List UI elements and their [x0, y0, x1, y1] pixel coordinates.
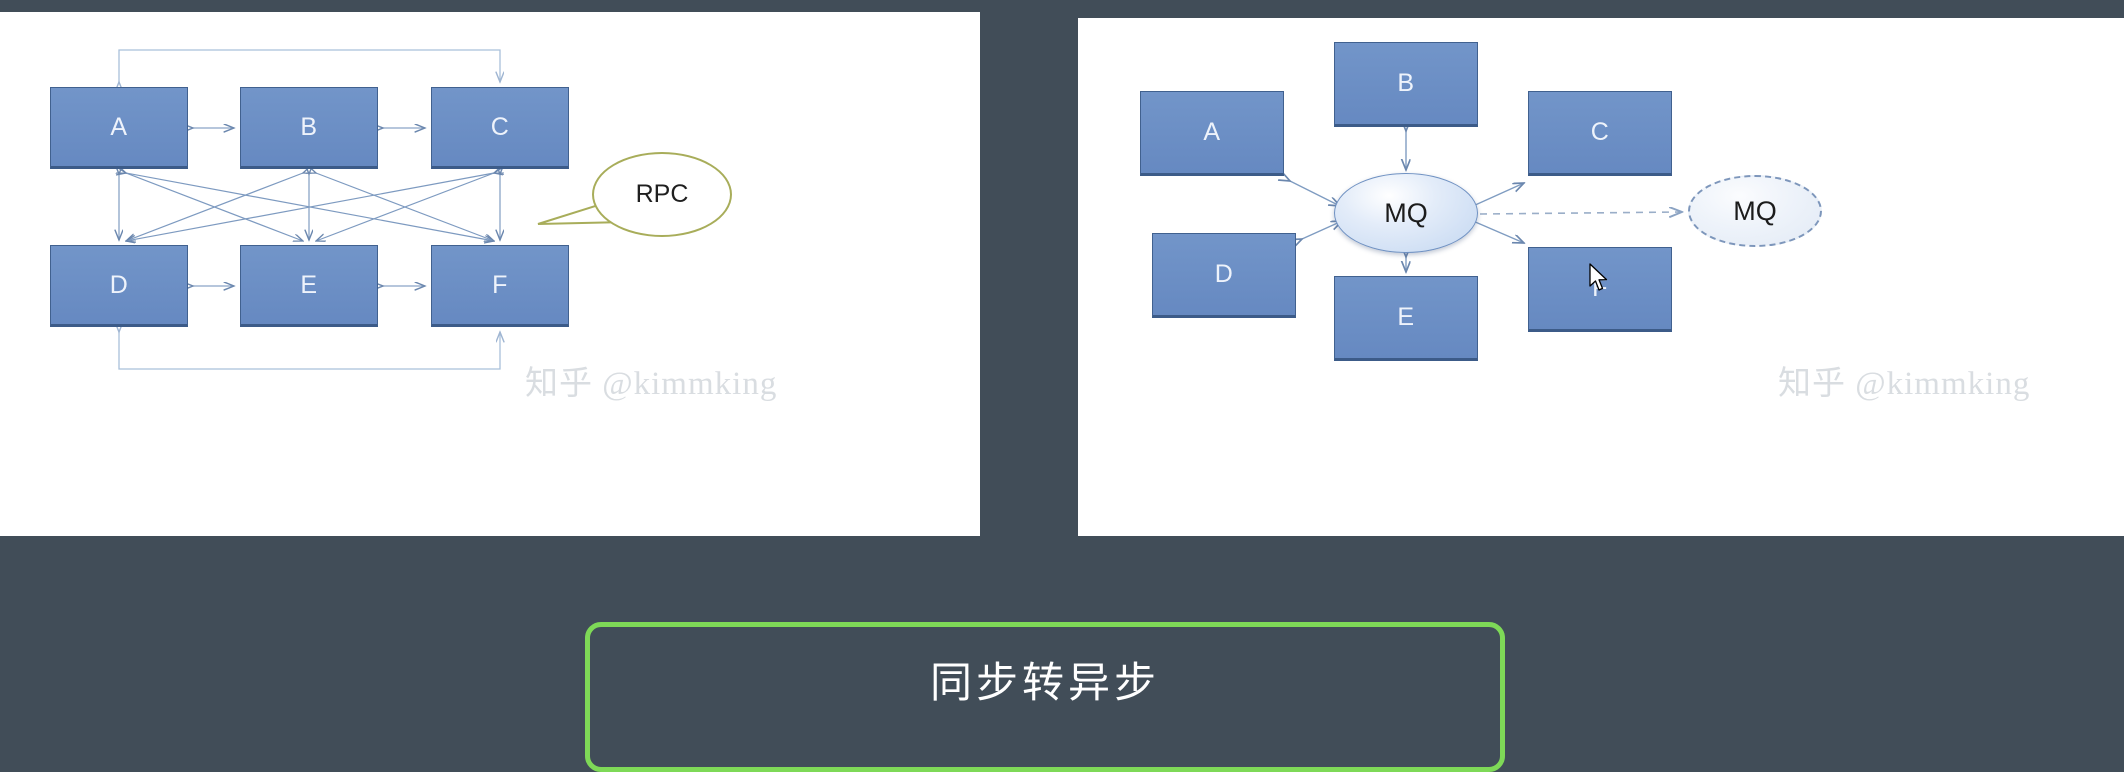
left-node-c-label: C	[491, 113, 510, 142]
right-node-b-label: B	[1397, 69, 1414, 98]
rpc-callout-label: RPC	[636, 180, 689, 209]
mq-broker-replica[interactable]: MQ	[1688, 175, 1822, 247]
left-node-c[interactable]: C	[431, 87, 569, 169]
caption-box: 同步转异步	[585, 622, 1505, 772]
right-node-c[interactable]: C	[1528, 91, 1672, 176]
right-node-e[interactable]: E	[1334, 276, 1478, 361]
right-node-f-label: F	[1592, 274, 1608, 303]
caption-text: 同步转异步	[930, 649, 1160, 710]
left-node-f-label: F	[492, 271, 508, 300]
left-node-e-label: E	[300, 271, 317, 300]
right-node-b[interactable]: B	[1334, 42, 1478, 127]
left-node-d-label: D	[110, 271, 129, 300]
left-node-b[interactable]: B	[240, 87, 378, 169]
left-node-d[interactable]: D	[50, 245, 188, 327]
left-node-e[interactable]: E	[240, 245, 378, 327]
right-node-c-label: C	[1591, 118, 1610, 147]
right-node-d[interactable]: D	[1152, 233, 1296, 318]
right-node-d-label: D	[1215, 260, 1234, 289]
mq-broker-replica-label: MQ	[1733, 196, 1777, 227]
left-node-a-label: A	[110, 113, 127, 142]
left-node-a[interactable]: A	[50, 87, 188, 169]
mq-broker-primary[interactable]: MQ	[1334, 173, 1478, 253]
rpc-callout[interactable]: RPC	[592, 152, 732, 237]
right-node-e-label: E	[1397, 303, 1414, 332]
left-panel-watermark: 知乎 @kimmking	[525, 356, 777, 404]
mq-broker-primary-label: MQ	[1384, 198, 1428, 229]
left-diagram-panel: A B C D E F RPC 知乎 @kimmking	[0, 12, 980, 536]
right-panel-watermark: 知乎 @kimmking	[1778, 356, 2030, 404]
right-node-a[interactable]: A	[1140, 91, 1284, 176]
right-diagram-panel: A B C D E F MQ MQ 知乎 @kimmking	[1078, 18, 2124, 536]
right-node-f[interactable]: F	[1528, 247, 1672, 332]
left-node-f[interactable]: F	[431, 245, 569, 327]
left-node-b-label: B	[300, 113, 317, 142]
right-node-a-label: A	[1203, 118, 1220, 147]
